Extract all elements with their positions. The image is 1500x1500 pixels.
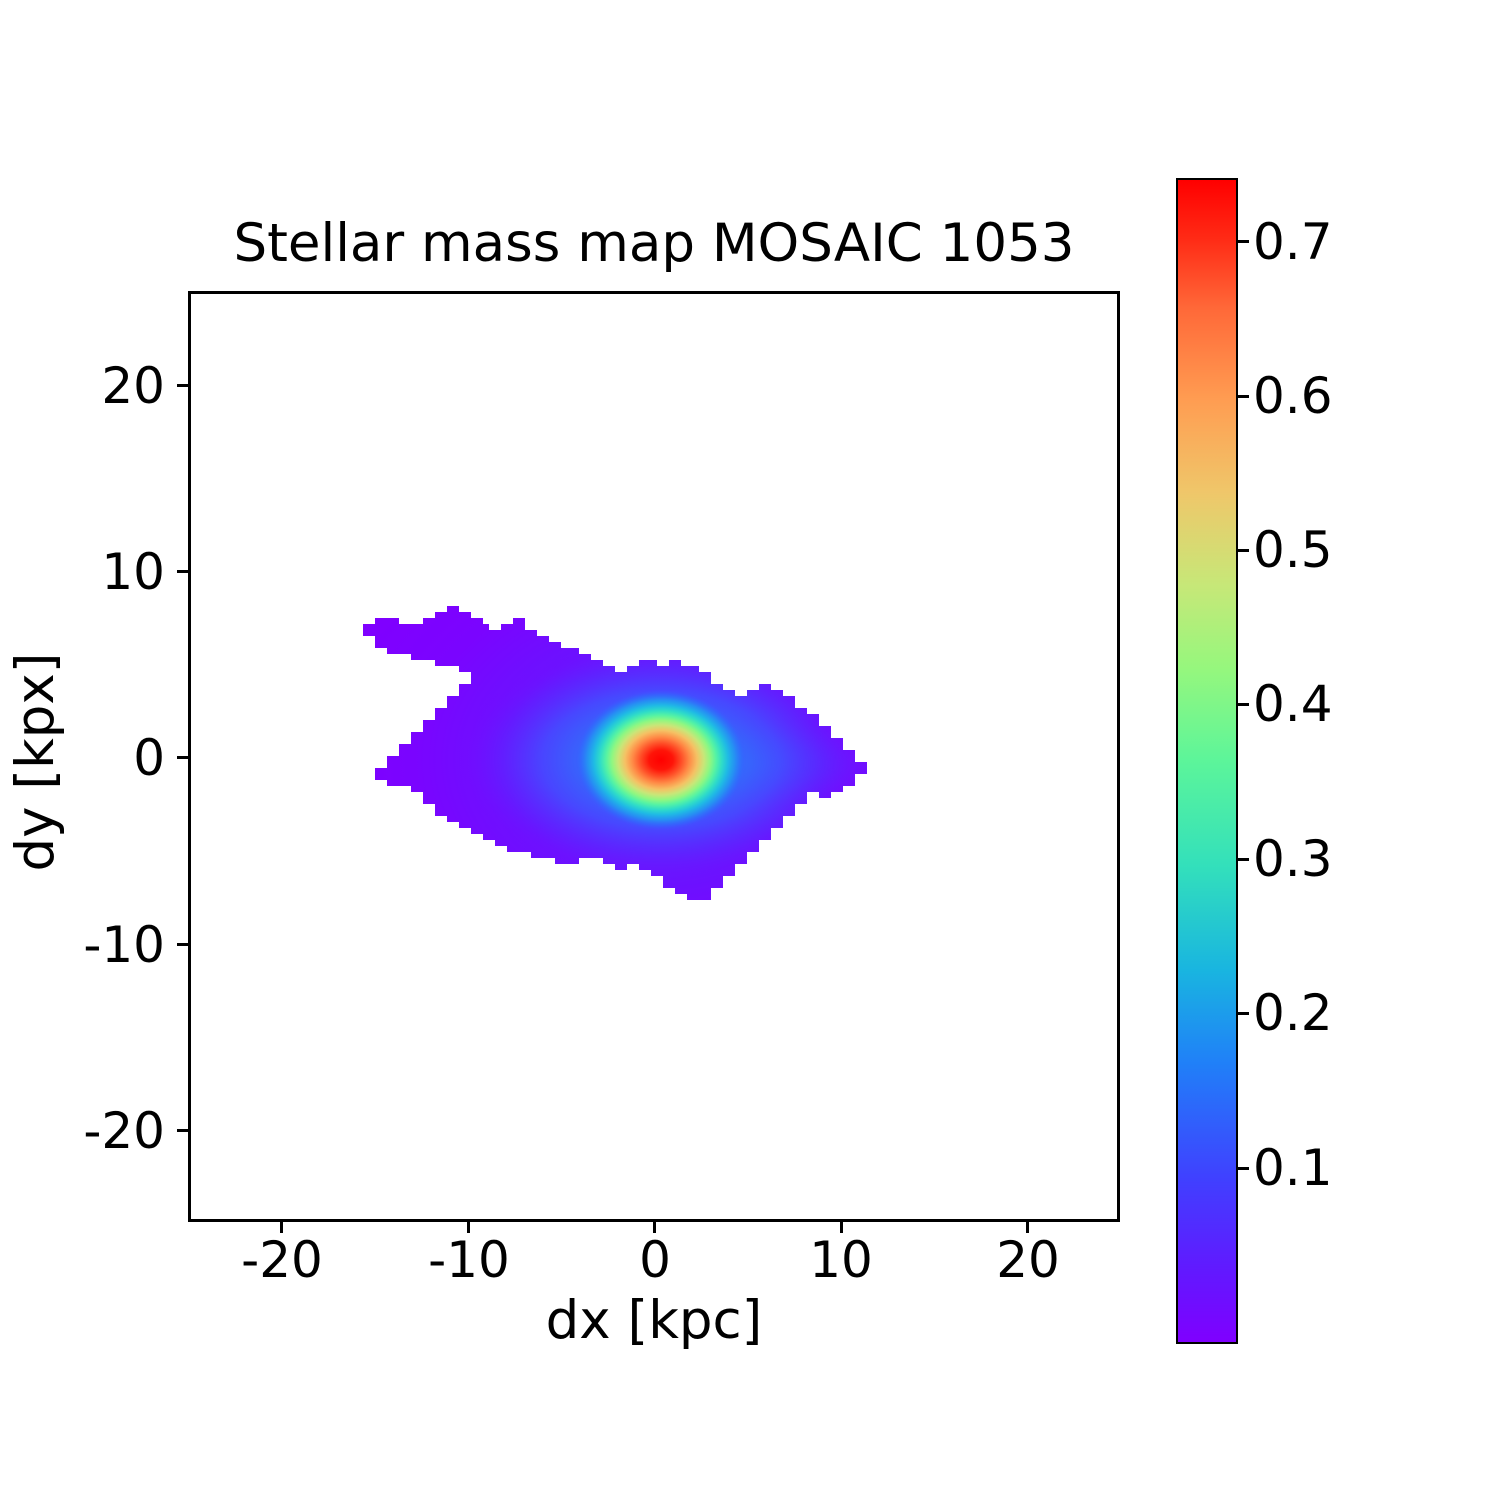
- ytick-label: 20: [55, 358, 165, 414]
- xtick-label: -20: [241, 1232, 323, 1288]
- xtick-label: 0: [639, 1232, 671, 1288]
- figure-canvas: Stellar mass map MOSAIC 1053: [0, 0, 1500, 1500]
- colorbar-tick-label: 0.5: [1253, 522, 1333, 578]
- colorbar-tick-label: 0.1: [1253, 1140, 1333, 1196]
- core-peak-layer: [191, 294, 1117, 1219]
- colorbar-tick-mark: [1238, 1167, 1249, 1170]
- colorbar-tick-mark: [1238, 703, 1249, 706]
- ytick-mark: [177, 1129, 188, 1132]
- mask-region: [191, 294, 1117, 1219]
- colorbar-tick-label: 0.7: [1253, 214, 1333, 270]
- ytick-mark: [177, 756, 188, 759]
- ytick-mark: [177, 570, 188, 573]
- xtick-label: -10: [428, 1232, 510, 1288]
- x-axis-label: dx [kpc]: [188, 1290, 1120, 1352]
- colorbar-tick-mark: [1238, 240, 1249, 243]
- colorbar-tick-mark: [1238, 395, 1249, 398]
- ytick-label: 0: [55, 730, 165, 786]
- xtick-label: 20: [996, 1232, 1060, 1288]
- colorbar-tick-label: 0.2: [1253, 985, 1333, 1041]
- colorbar[interactable]: [1176, 178, 1238, 1344]
- colorbar-gradient: [1176, 178, 1238, 1344]
- colorbar-tick-label: 0.4: [1253, 676, 1333, 732]
- stellar-mass-heatmap: [191, 294, 1117, 1219]
- plot-axes: [188, 291, 1120, 1222]
- colorbar-tick-label: 0.3: [1253, 831, 1333, 887]
- ytick-mark: [177, 943, 188, 946]
- colorbar-tick-label: 0.6: [1253, 368, 1333, 424]
- colorbar-tick-mark: [1238, 549, 1249, 552]
- y-axis-label: dy [kpx]: [5, 296, 67, 1228]
- page-title: Stellar mass map MOSAIC 1053: [188, 214, 1120, 274]
- xtick-label: 10: [809, 1232, 873, 1288]
- ytick-label: 10: [55, 544, 165, 600]
- colorbar-tick-mark: [1238, 1012, 1249, 1015]
- ytick-mark: [177, 384, 188, 387]
- colorbar-tick-mark: [1238, 858, 1249, 861]
